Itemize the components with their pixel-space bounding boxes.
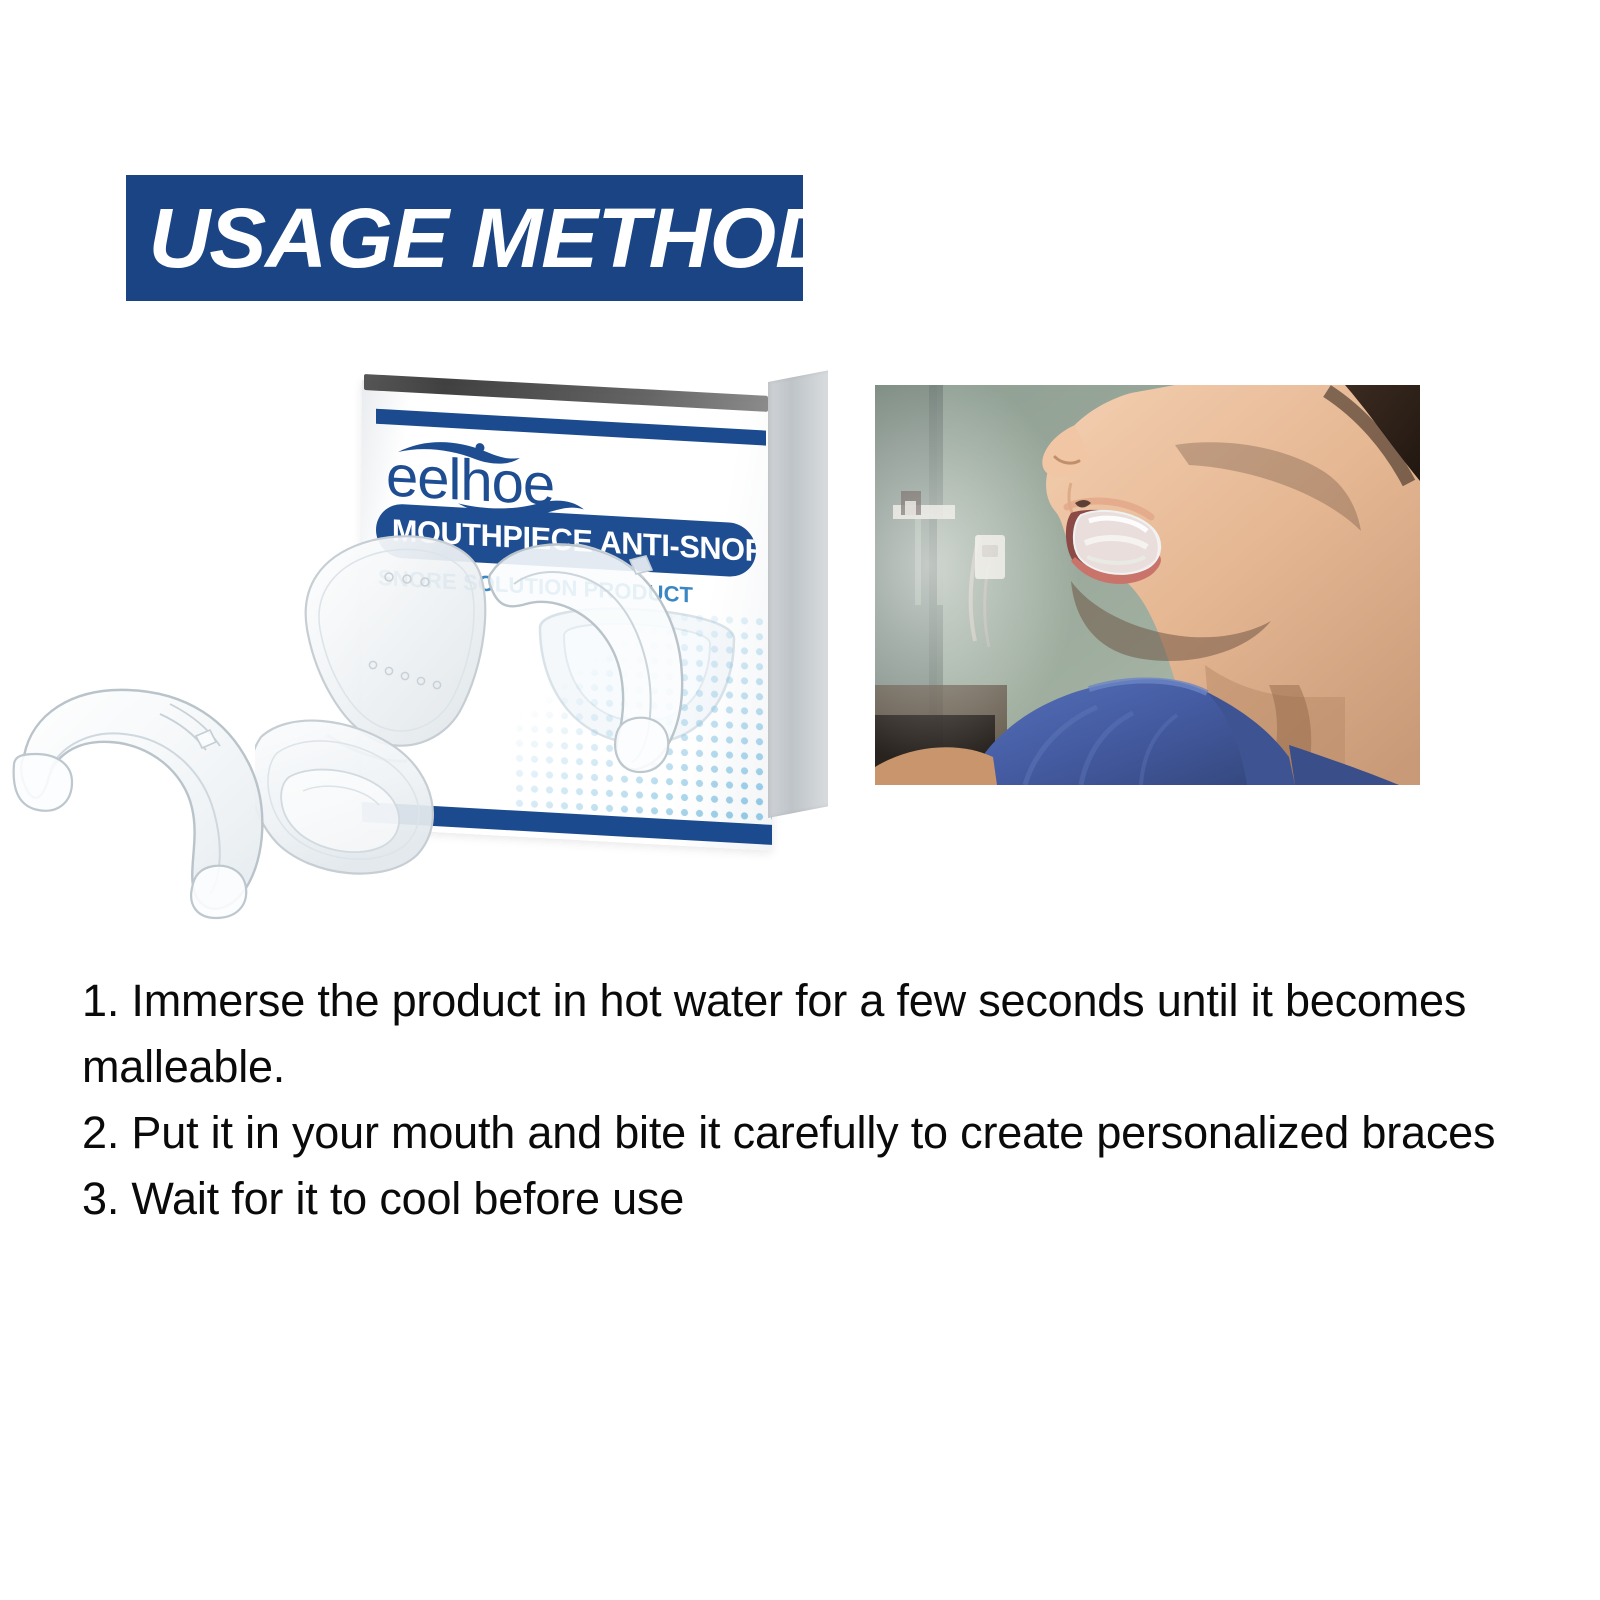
page-title: USAGE METHOD: [126, 196, 863, 280]
mouthguard-tray-back [480, 530, 700, 780]
box-side-panel [768, 370, 828, 818]
instruction-step-1: 1. Immerse the product in hot water for … [82, 968, 1522, 1100]
mouthguard-tray-front [10, 660, 310, 920]
usage-photo [875, 385, 1420, 785]
instructions-list: 1. Immerse the product in hot water for … [82, 968, 1522, 1232]
instruction-step-2: 2. Put it in your mouth and bite it care… [82, 1100, 1522, 1166]
product-image-group: eelhoe MOUTHPIECE ANTI-SNORE SNORE SOLUT… [0, 330, 860, 950]
instruction-step-3: 3. Wait for it to cool before use [82, 1166, 1522, 1232]
usage-method-header-banner: USAGE METHOD: [126, 175, 803, 301]
